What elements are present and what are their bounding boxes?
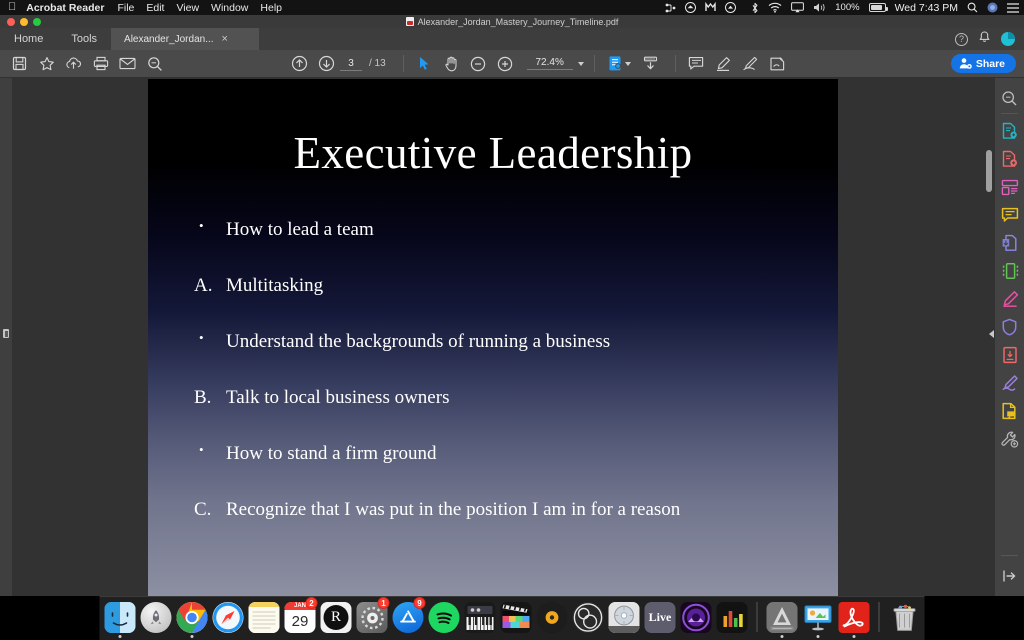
compress-pdf-tool-icon[interactable] [995, 229, 1024, 257]
sign-icon[interactable] [764, 50, 791, 78]
battery-icon[interactable] [869, 3, 886, 12]
tab-document[interactable]: Alexander_Jordan... × [111, 28, 259, 50]
list-item: • How to stand a firm ground [194, 442, 808, 466]
running-indicator [551, 635, 554, 638]
menu-bar-status-items: 100% Wed 7:43 PM [665, 0, 1019, 15]
bell-icon[interactable] [979, 31, 990, 47]
bullet-marker: • [194, 442, 226, 458]
dock-divider [879, 602, 880, 632]
more-tools-icon[interactable] [995, 425, 1024, 453]
list-item: C. Recognize that I was put in the posit… [194, 498, 808, 522]
wifi-icon[interactable] [768, 2, 782, 13]
dock-item-pro-tools[interactable] [680, 598, 713, 638]
dock-item-spotify[interactable] [428, 598, 461, 638]
rail-bottom-controls [995, 555, 1024, 590]
active-app-name[interactable]: Acrobat Reader [26, 2, 104, 14]
avatar[interactable] [1001, 32, 1015, 46]
dock-item-launchpad[interactable] [140, 598, 173, 638]
close-icon[interactable]: × [222, 34, 228, 45]
total-pages-label: / 13 [369, 58, 386, 69]
dock-item-keynote[interactable] [802, 598, 835, 638]
previous-page-button[interactable] [286, 50, 313, 78]
bullet-text: Multitasking [226, 274, 323, 298]
dock-item-safari[interactable] [212, 598, 245, 638]
dock-item-dvd-player[interactable] [608, 598, 641, 638]
fill-sign-tool-icon[interactable] [995, 369, 1024, 397]
menu-file[interactable]: File [117, 2, 134, 14]
next-page-button[interactable] [313, 50, 340, 78]
dock-divider [757, 602, 758, 632]
running-indicator [903, 635, 906, 638]
dock-item-calendar[interactable]: 2 JAN 29 [284, 598, 317, 638]
pdf-page-area[interactable]: Executive Leadership • How to lead a tea… [12, 78, 975, 596]
running-indicator [623, 635, 626, 638]
collapse-right-panel-icon[interactable] [989, 330, 994, 338]
organize-pages-tool-icon[interactable] [995, 173, 1024, 201]
edit-pdf-tool-icon[interactable] [995, 285, 1024, 313]
running-indicator [407, 635, 410, 638]
left-panel-collapsed[interactable] [0, 78, 12, 596]
dock-item-ableton-live[interactable]: Live [644, 598, 677, 638]
macos-menu-bar:  Acrobat Reader File Edit View Window H… [0, 0, 1024, 15]
window-titlebar: Alexander_Jordan_Mastery_Journey_Timelin… [0, 15, 1024, 28]
running-indicator [853, 635, 856, 638]
help-icon[interactable]: ? [955, 33, 968, 46]
obs-icon [573, 602, 604, 633]
macos-dock-area: 2 JAN 29 R 1 9 [0, 596, 1024, 640]
highlight-icon[interactable] [710, 50, 737, 78]
running-indicator [155, 635, 158, 638]
vertical-scrollbar[interactable] [983, 78, 995, 596]
launchpad-icon [141, 602, 172, 633]
running-indicator [781, 635, 784, 638]
document-title-bar: Alexander_Jordan_Mastery_Journey_Timelin… [406, 17, 619, 27]
ableton-live-icon: Live [645, 602, 676, 633]
share-person-icon [959, 57, 972, 70]
autodesk-icon [767, 602, 798, 633]
bullet-text: How to lead a team [226, 218, 374, 242]
menu-edit[interactable]: Edit [146, 2, 164, 14]
tools-rail [995, 78, 1024, 596]
reason-icon: R [321, 602, 352, 633]
ableton-live-label: Live [649, 610, 672, 625]
dvd-player-icon [609, 602, 640, 633]
network-activity-icon[interactable] [665, 3, 676, 13]
calendar-day: 29 [292, 610, 309, 633]
draw-icon[interactable] [737, 50, 764, 78]
zoom-in-icon[interactable] [492, 50, 519, 78]
pro-tools-icon [681, 602, 712, 633]
mega-icon[interactable] [705, 2, 716, 13]
running-indicator [335, 635, 338, 638]
tab-document-label: Alexander_Jordan... [124, 34, 214, 45]
final-cut-pro-icon [501, 602, 532, 633]
apple-logo-icon[interactable]:  [8, 2, 16, 13]
running-indicator [191, 635, 194, 638]
bullet-text: Talk to local business owners [226, 386, 449, 410]
running-indicator [263, 635, 266, 638]
backup-icon[interactable] [725, 2, 736, 13]
divider [1001, 113, 1018, 114]
share-button[interactable]: Share [951, 54, 1016, 73]
chevron-down-icon[interactable] [625, 62, 631, 66]
menu-window[interactable]: Window [211, 2, 248, 14]
comment-icon[interactable] [683, 50, 710, 78]
create-pdf-tool-icon[interactable] [995, 145, 1024, 173]
combine-files-tool-icon[interactable] [995, 257, 1024, 285]
save-icon[interactable] [6, 50, 33, 78]
protect-tool-icon[interactable] [995, 313, 1024, 341]
siri-icon[interactable] [987, 2, 998, 13]
finder-icon [105, 602, 136, 633]
spotify-icon [429, 602, 460, 633]
running-indicator [587, 635, 590, 638]
page-number-input[interactable]: 3 [340, 56, 362, 71]
list-item: • Understand the backgrounds of running … [194, 330, 808, 354]
badge: 2 [306, 597, 318, 609]
dock-item-app-store[interactable]: 9 [392, 598, 425, 638]
macos-dock: 2 JAN 29 R 1 9 [100, 596, 925, 640]
tab-bar-right-controls: ? [955, 28, 1024, 50]
divider [1001, 555, 1018, 556]
dock-item-chrome[interactable] [176, 598, 209, 638]
dock-item-final-cut-pro[interactable] [500, 598, 533, 638]
bullet-marker: A. [194, 274, 226, 298]
minimize-window-button[interactable] [20, 18, 28, 26]
running-indicator [817, 635, 820, 638]
pdf-viewer: Executive Leadership • How to lead a tea… [0, 78, 1024, 596]
chevron-down-icon[interactable] [578, 62, 584, 66]
slide-title: Executive Leadership [148, 127, 838, 179]
numbers-icon [717, 602, 748, 633]
bullet-text: How to stand a firm ground [226, 442, 437, 466]
dock-item-trash[interactable] [888, 598, 921, 638]
share-button-label: Share [976, 58, 1005, 70]
running-indicator [479, 635, 482, 638]
maximize-window-button[interactable] [33, 18, 41, 26]
running-indicator [731, 635, 734, 638]
menu-view[interactable]: View [176, 2, 199, 14]
running-indicator [695, 635, 698, 638]
reason-logo: R [324, 605, 349, 630]
garageband-icon [465, 602, 496, 633]
volume-icon[interactable] [813, 2, 826, 13]
logic-pro-icon [537, 602, 568, 633]
email-icon[interactable] [114, 50, 141, 78]
cloud-upload-icon[interactable] [60, 50, 87, 78]
dock-item-adobe-acrobat[interactable] [838, 598, 871, 638]
trash-icon [889, 602, 920, 633]
dock-item-obs[interactable] [572, 598, 605, 638]
dock-item-autodesk[interactable] [766, 598, 799, 638]
chrome-icon [177, 602, 208, 633]
close-window-button[interactable] [7, 18, 15, 26]
select-tool-icon[interactable] [411, 50, 438, 78]
slide-bullet-list: • How to lead a team A. Multitasking • U… [194, 218, 808, 554]
hand-tool-icon[interactable] [438, 50, 465, 78]
bluetooth-icon[interactable] [751, 2, 759, 14]
export-file-tool-icon[interactable] [995, 341, 1024, 369]
control-center-icon[interactable] [1007, 3, 1019, 13]
running-indicator [227, 635, 230, 638]
tab-home[interactable]: Home [0, 28, 57, 50]
running-indicator [371, 635, 374, 638]
notes-icon [249, 602, 280, 633]
battery-percentage: 100% [835, 2, 859, 13]
bullet-marker: • [194, 218, 226, 234]
expand-panel-icon[interactable] [1002, 562, 1017, 590]
dock-item-reason[interactable]: R [320, 598, 353, 638]
keynote-icon [803, 602, 834, 633]
list-item: B. Talk to local business owners [194, 386, 808, 410]
tab-tools[interactable]: Tools [57, 28, 111, 50]
list-item: • How to lead a team [194, 218, 808, 242]
search-icon[interactable] [967, 2, 978, 13]
acrobat-toolbar: 3 / 13 72.4% Share [0, 50, 1024, 78]
zoom-level-value[interactable]: 72.4% [527, 57, 573, 70]
dock-item-system-preferences[interactable]: 1 [356, 598, 389, 638]
dock-item-numbers[interactable] [716, 598, 749, 638]
pdf-file-icon [406, 17, 414, 26]
search-icon[interactable] [141, 50, 168, 78]
window-controls [7, 15, 41, 28]
document-filename: Alexander_Jordan_Mastery_Journey_Timelin… [418, 17, 619, 27]
zoom-out-icon[interactable] [465, 50, 492, 78]
running-indicator [515, 635, 518, 638]
star-icon[interactable] [33, 50, 60, 78]
airplay-icon[interactable] [791, 2, 804, 13]
running-indicator [659, 635, 662, 638]
pdf-page: Executive Leadership • How to lead a tea… [148, 79, 838, 596]
bullet-marker: • [194, 330, 226, 346]
adobe-acrobat-icon [839, 602, 870, 633]
export-pdf-tool-icon[interactable] [995, 117, 1024, 145]
running-indicator [299, 635, 302, 638]
request-signature-tool-icon[interactable] [995, 397, 1024, 425]
scroll-mode-icon[interactable] [637, 50, 664, 78]
acrobat-tab-bar: Home Tools Alexander_Jordan... × ? [0, 28, 1024, 50]
bullet-marker: C. [194, 498, 226, 522]
print-icon[interactable] [87, 50, 114, 78]
search-tool-icon[interactable] [995, 84, 1024, 112]
dock-item-garageband[interactable] [464, 598, 497, 638]
zoom-level-control[interactable]: 72.4% [527, 57, 584, 70]
safari-icon [213, 602, 244, 633]
running-indicator [443, 635, 446, 638]
bullet-marker: B. [194, 386, 226, 410]
menu-bar-clock[interactable]: Wed 7:43 PM [895, 2, 958, 14]
badge: 1 [378, 597, 390, 609]
running-indicator [119, 635, 122, 638]
dock-item-notes[interactable] [248, 598, 281, 638]
dock-item-logic-pro[interactable] [536, 598, 569, 638]
badge: 9 [414, 597, 426, 609]
scrollbar-thumb[interactable] [986, 150, 992, 192]
bullet-text: Understand the backgrounds of running a … [226, 330, 610, 354]
dropbox-icon[interactable] [685, 2, 696, 13]
expand-left-panel-icon[interactable] [3, 329, 9, 338]
bullet-text: Recognize that I was put in the position… [226, 498, 680, 522]
comment-tool-icon[interactable] [995, 201, 1024, 229]
menu-help[interactable]: Help [260, 2, 282, 14]
list-item: A. Multitasking [194, 274, 808, 298]
dock-item-finder[interactable] [104, 598, 137, 638]
